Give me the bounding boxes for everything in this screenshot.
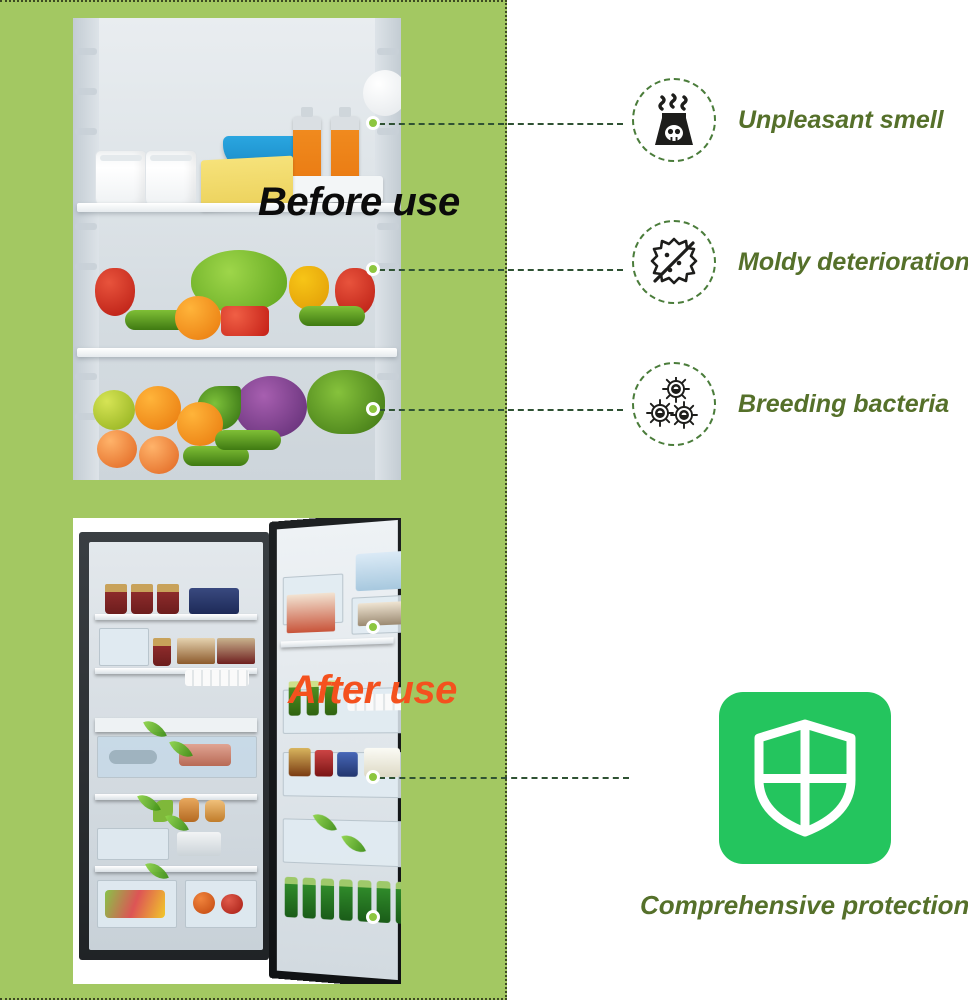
smell-skull-icon (649, 93, 699, 147)
red-pepper-1 (95, 268, 135, 316)
yellow-pepper (289, 266, 329, 310)
protection-tile (719, 692, 891, 864)
cucumber-4 (215, 430, 281, 450)
connector-line-mold (379, 269, 623, 271)
infographic-root: Before use After use (0, 0, 968, 1000)
fridge-interior (73, 18, 401, 480)
after-use-photo (73, 518, 401, 984)
apple-red (97, 430, 137, 468)
before-use-photo (73, 18, 401, 480)
problem-row-bacteria: Breeding bacteria (632, 362, 949, 446)
eggs-pile (363, 70, 401, 116)
connector-line-smell (379, 123, 623, 125)
before-use-label: Before use (258, 180, 460, 225)
connector-dot-mold (366, 262, 380, 276)
connector-dot-after-top (366, 620, 380, 634)
problem-label-mold: Moldy deterioration (738, 248, 968, 277)
fridge-open-door (269, 518, 401, 984)
connector-dot-protection (366, 770, 380, 784)
milk-jar-2 (145, 150, 197, 208)
after-use-label: After use (288, 668, 457, 713)
smell-badge (632, 78, 716, 162)
mold-badge (632, 220, 716, 304)
connector-dot-bacteria (366, 402, 380, 416)
orange-1 (135, 386, 181, 430)
problem-label-smell: Unpleasant smell (738, 106, 944, 135)
connector-line-protection (379, 777, 629, 779)
connector-dot-after-bottom (366, 910, 380, 924)
protection-label: Comprehensive protection (640, 890, 968, 921)
problem-row-smell: Unpleasant smell (632, 78, 944, 162)
fridge-cavity (89, 542, 263, 950)
milk-jar-1 (95, 150, 147, 208)
peach (139, 436, 179, 474)
fridge-shelf-middle (77, 348, 397, 357)
apple-green (93, 390, 135, 430)
red-cabbage (235, 376, 307, 438)
mold-germ-icon (648, 236, 700, 288)
door-shelving (277, 520, 398, 980)
bacteria-icon (646, 377, 702, 431)
tomato-bowl (221, 306, 269, 336)
two-door-fridge (73, 518, 401, 984)
orange-mid (175, 296, 221, 340)
problem-row-mold: Moldy deterioration (632, 220, 968, 304)
fridge-cabinet (79, 532, 269, 960)
connector-line-bacteria (379, 409, 623, 411)
protection-block: Comprehensive protection (640, 692, 968, 921)
bacteria-badge (632, 362, 716, 446)
shield-icon (751, 718, 859, 838)
cucumber-2 (299, 306, 365, 326)
connector-dot-smell (366, 116, 380, 130)
problem-label-bacteria: Breeding bacteria (738, 390, 949, 419)
